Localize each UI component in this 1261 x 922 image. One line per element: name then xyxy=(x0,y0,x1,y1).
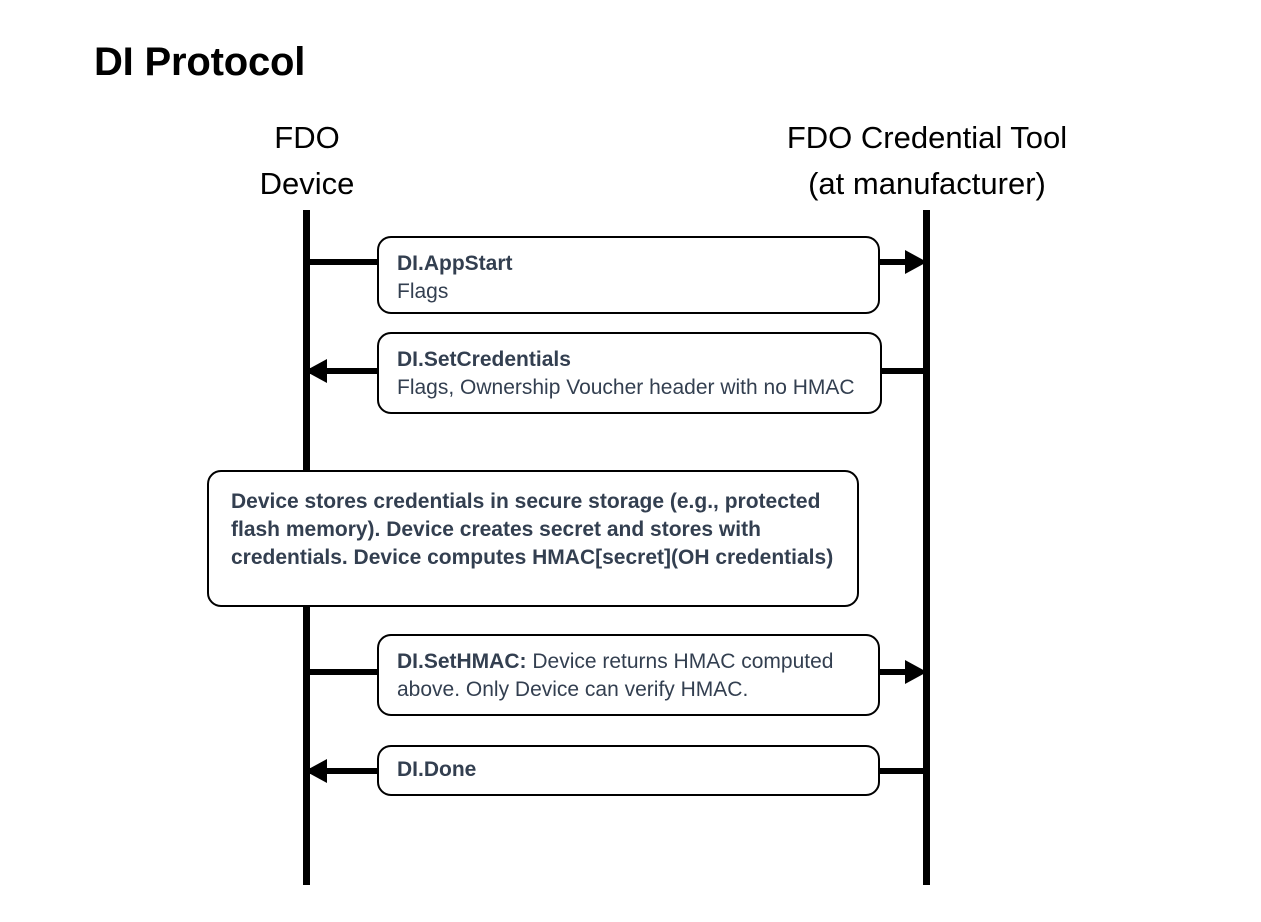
note-line-2: flash memory). Device creates secret and… xyxy=(231,516,835,544)
page-title: DI Protocol xyxy=(94,40,305,85)
message-box-setcredentials[interactable]: DI.SetCredentials Flags, Ownership Vouch… xyxy=(377,332,882,414)
lifeline-header-credential-tool-line1: FDO Credential Tool xyxy=(727,115,1127,161)
arrowhead-appstart xyxy=(905,250,927,274)
message-appstart-name: DI.AppStart xyxy=(397,250,860,278)
lifeline-tool xyxy=(923,210,930,885)
note-device-stores-credentials[interactable]: Device stores credentials in secure stor… xyxy=(207,470,859,607)
lifeline-header-credential-tool: FDO Credential Tool (at manufacturer) xyxy=(727,115,1127,207)
arrowhead-done xyxy=(305,759,327,783)
note-line-3: credentials. Device computes HMAC[secret… xyxy=(231,544,835,572)
lifeline-header-device: FDO Device xyxy=(107,115,507,207)
message-sethmac-detail-line1: Device returns HMAC computed xyxy=(532,650,833,673)
lifeline-header-credential-tool-line2: (at manufacturer) xyxy=(727,161,1127,207)
message-appstart-detail: Flags xyxy=(397,278,860,306)
message-sethmac-line1: DI.SetHMAC: Device returns HMAC computed xyxy=(397,648,860,676)
lifeline-header-device-line1: FDO xyxy=(107,115,507,161)
message-done-name: DI.Done xyxy=(397,757,860,783)
message-sethmac-detail-line2: above. Only Device can verify HMAC. xyxy=(397,676,860,704)
message-sethmac-name: DI.SetHMAC: xyxy=(397,650,532,673)
message-box-done[interactable]: DI.Done xyxy=(377,745,880,796)
message-setcredentials-name: DI.SetCredentials xyxy=(397,346,862,374)
arrowhead-setcredentials xyxy=(305,359,327,383)
message-box-sethmac[interactable]: DI.SetHMAC: Device returns HMAC computed… xyxy=(377,634,880,716)
lifeline-header-device-line2: Device xyxy=(107,161,507,207)
message-box-appstart[interactable]: DI.AppStart Flags xyxy=(377,236,880,314)
message-setcredentials-detail: Flags, Ownership Voucher header with no … xyxy=(397,374,862,402)
note-line-1: Device stores credentials in secure stor… xyxy=(231,488,835,516)
diagram-canvas: DI Protocol FDO Device FDO Credential To… xyxy=(0,0,1261,922)
arrowhead-sethmac xyxy=(905,660,927,684)
